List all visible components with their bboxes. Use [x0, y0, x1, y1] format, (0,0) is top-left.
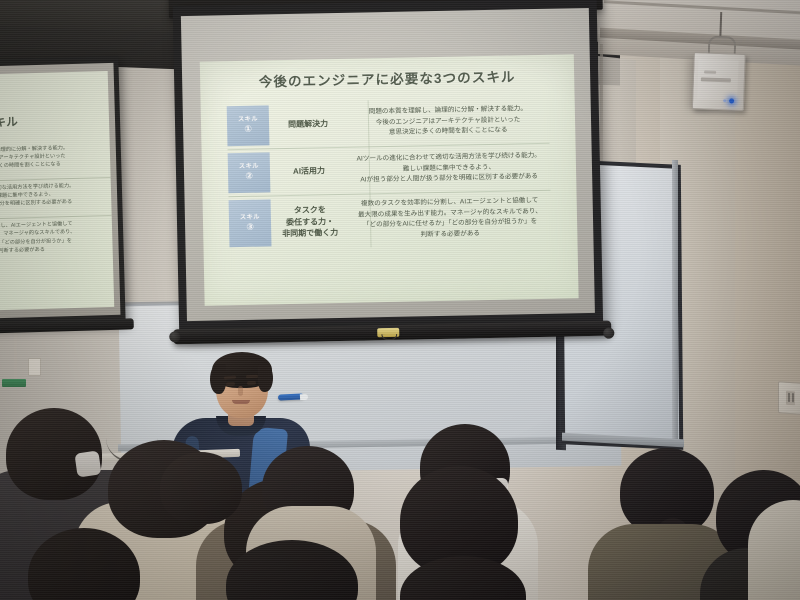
face-mask-icon: [74, 450, 101, 477]
audience: [0, 0, 800, 600]
lecture-hall-photo: 要な3つのスキル を理解し、論理的に分解・解決する能力。 ンジニアはアーキテクチ…: [0, 0, 800, 600]
audience-head: [160, 452, 242, 524]
